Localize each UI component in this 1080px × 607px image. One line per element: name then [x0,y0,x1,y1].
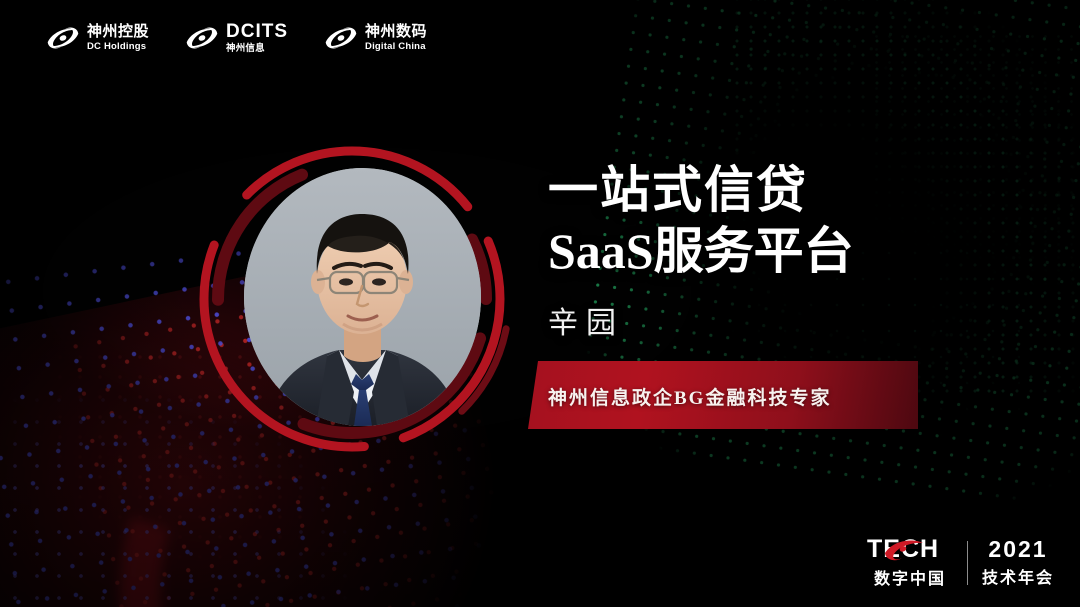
logo-dcits: DCITS 神州信息 [185,22,288,54]
event-edition: 2021 技术年会 [982,538,1054,588]
event-brand: TECH 数字中国 [867,536,953,589]
vignette-overlay [0,0,1080,607]
slide-canvas: 神州控股 DC Holdings DCITS 神州信息 神州数码 [0,0,1080,607]
subtitle-text: 神州信息政企BG金融科技专家 [548,383,831,410]
event-brand-cn: 数字中国 [874,565,946,589]
logo-label-en: DC Holdings [87,42,149,52]
logo-label-cn: 神州控股 [87,24,149,40]
logo-label-en: Digital China [365,42,427,52]
title-line-1: 一站式信贷 [548,160,854,221]
logo-digital-china: 神州数码 Digital China [324,24,427,52]
green-dot-field-3 [870,30,1080,360]
swirl-logo-icon [46,25,80,51]
tech-wordmark-icon: TECH [867,536,953,562]
event-year: 2021 [988,538,1047,561]
portrait-group [200,133,510,463]
speaker-name: 辛园 [548,298,854,342]
swirl-logo-icon [324,25,358,51]
logo-bar: 神州控股 DC Holdings DCITS 神州信息 神州数码 [46,22,427,54]
event-lockup: TECH 数字中国 2021 技术年会 [867,536,1054,589]
logo-label-cn: DCITS [226,22,288,42]
logo-dc-holdings: 神州控股 DC Holdings [46,24,149,52]
swirl-logo-icon [185,25,219,51]
portrait-illustration [244,168,481,426]
title-line-2: SaaS服务平台 [548,221,854,282]
event-year-cn: 技术年会 [982,564,1054,588]
logo-label-cn: 神州数码 [365,24,427,40]
logo-label-en: 神州信息 [226,44,288,54]
speaker-portrait [244,168,481,426]
event-divider [967,541,968,585]
title-block: 一站式信贷 SaaS服务平台 辛园 [548,160,854,342]
